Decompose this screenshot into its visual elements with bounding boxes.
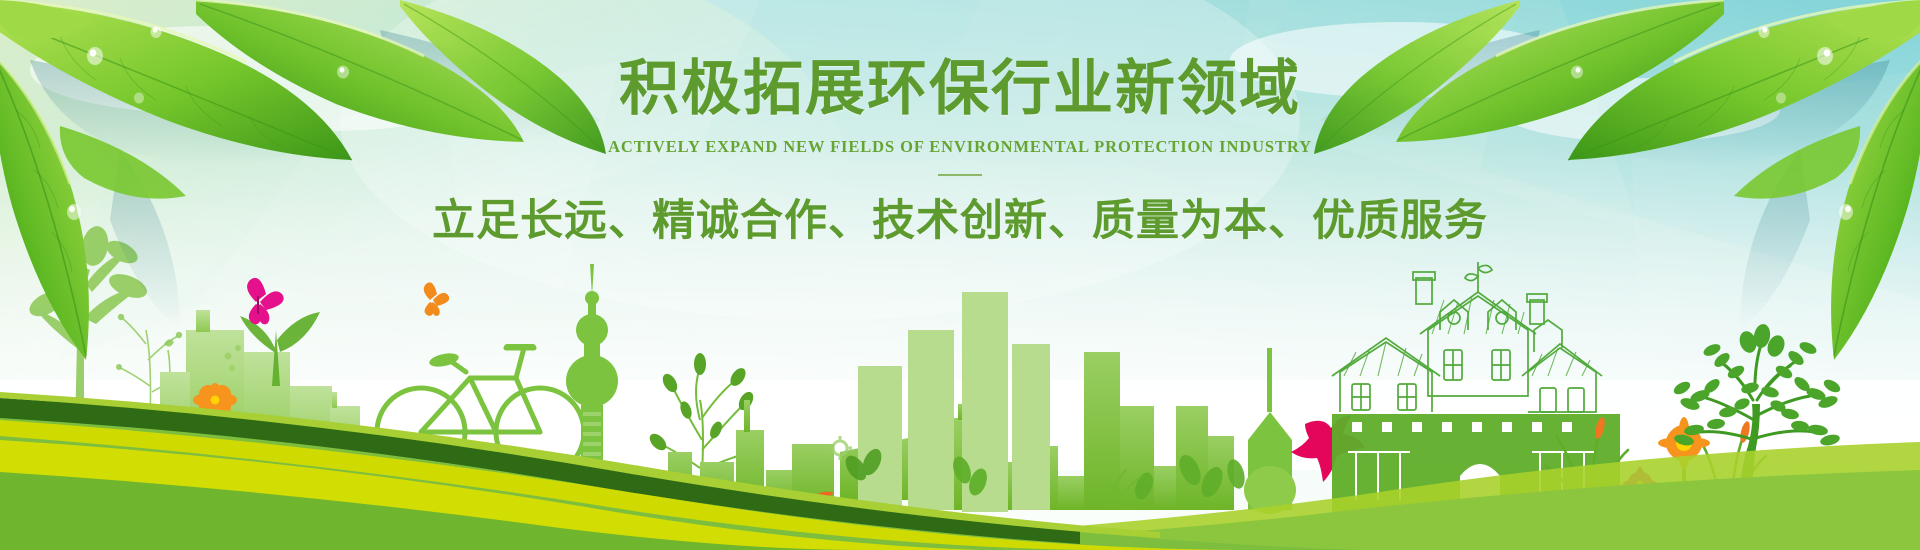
leaf-cluster-right [1314, 0, 1920, 360]
leaf-cluster-left [0, 0, 606, 360]
eco-banner: 积极拓展环保行业新领域 ACTIVELY EXPAND NEW FIELDS O… [0, 0, 1920, 550]
leaves-layer [0, 0, 1920, 550]
